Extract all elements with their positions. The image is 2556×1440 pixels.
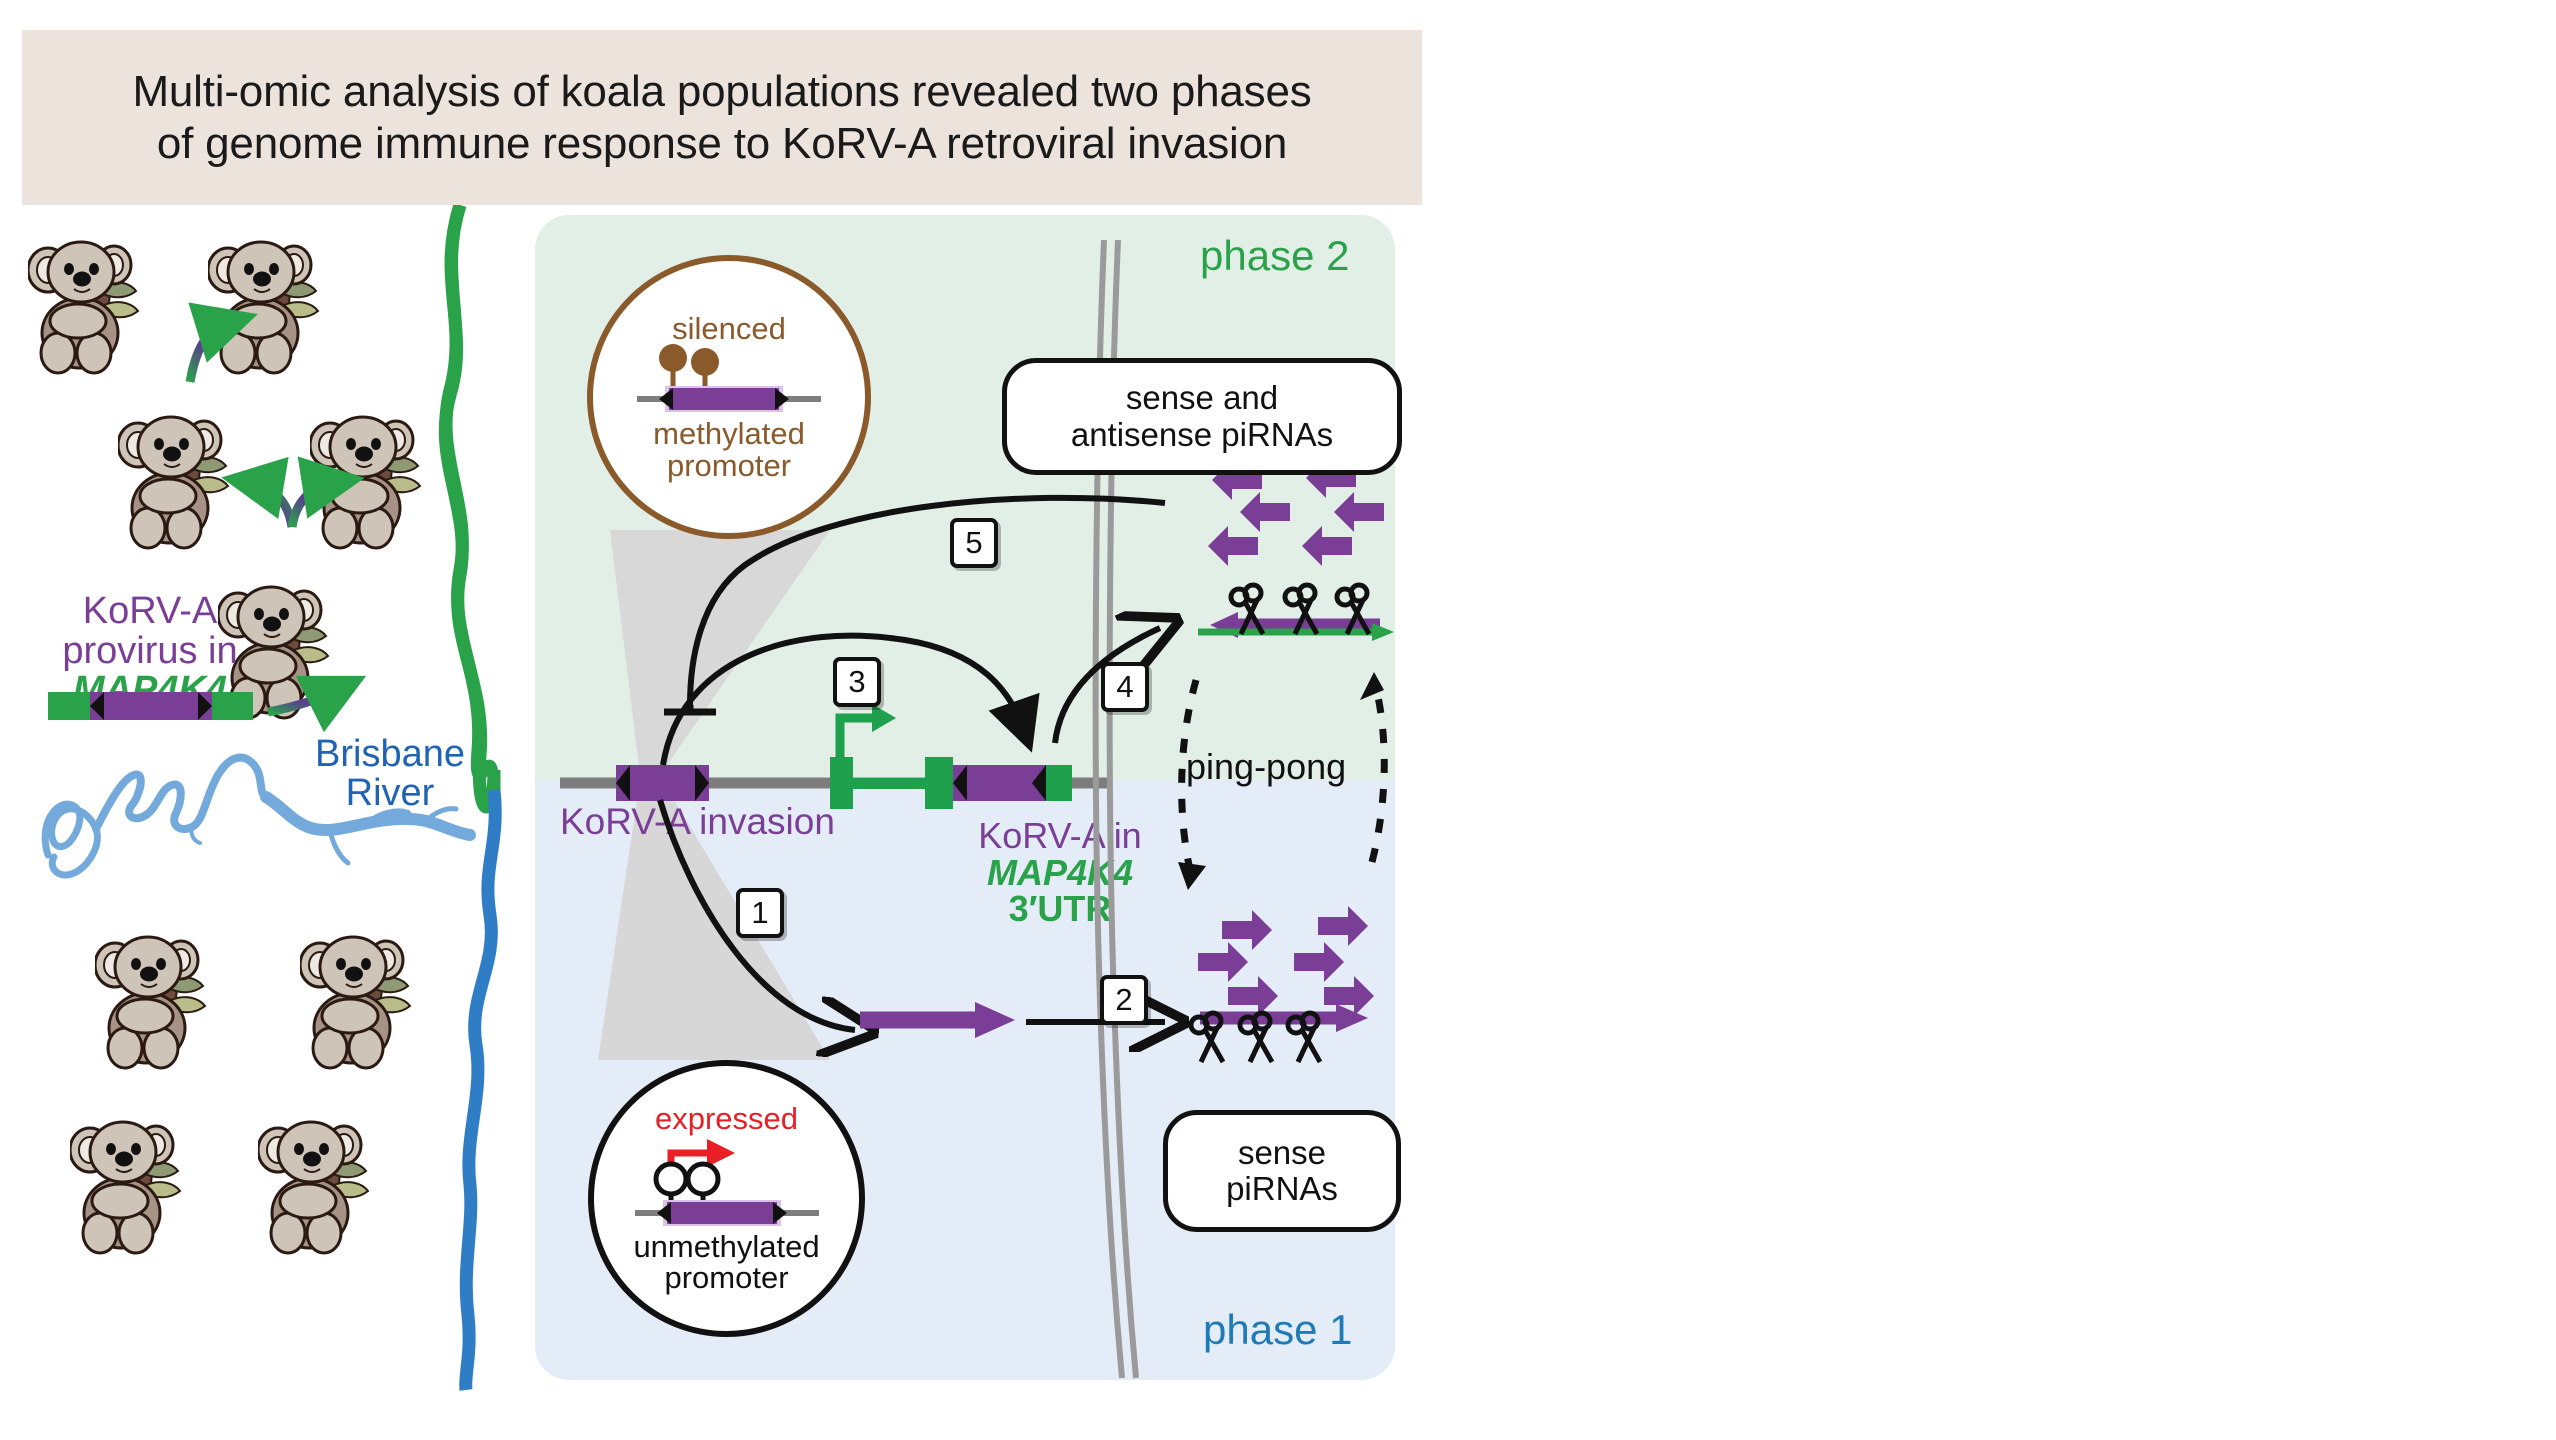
sense-box-line2: piRNAs — [1226, 1170, 1338, 1207]
antisense-pirna-box: sense and antisense piRNAs — [1002, 358, 1402, 475]
brisbane-river-label-line1: Brisbane — [315, 733, 465, 775]
korv-in-gene: MAP4K4 — [955, 855, 1165, 892]
figure-canvas: Multi-omic analysis of koala populations… — [0, 0, 2556, 1440]
koala-icon — [95, 920, 213, 1070]
step-badge-4: 4 — [1101, 662, 1149, 712]
koala-icon — [258, 1105, 376, 1255]
sense-box-line1: sense — [1238, 1134, 1326, 1171]
koala-icon — [300, 920, 418, 1070]
korv-invasion-label: KoRV-A invasion — [560, 803, 835, 841]
step-badge-5: 5 — [950, 518, 998, 568]
phase1-label: phase 1 — [1203, 1306, 1352, 1354]
koala-icon — [310, 400, 428, 550]
antisense-box-line2: antisense piRNAs — [1071, 416, 1333, 453]
provirus-cassette-icon — [48, 688, 253, 724]
step-badge-3: 3 — [833, 657, 881, 707]
antisense-box-line1: sense and — [1126, 379, 1278, 416]
korv-in-3utr-label: KoRV-A in MAP4K4 3′UTR — [955, 818, 1165, 928]
expressed-callout: expressed unmethylated promoter — [588, 1060, 865, 1337]
methylated-line1: methylated — [653, 416, 805, 451]
sense-pirna-box: sense piRNAs — [1163, 1110, 1401, 1232]
expressed-label: expressed — [655, 1103, 798, 1135]
korv-provirus-line1: KoRV-A — [30, 592, 270, 632]
step-badge-2: 2 — [1100, 975, 1148, 1025]
title-banner: Multi-omic analysis of koala populations… — [22, 30, 1422, 205]
koala-icon — [70, 1105, 188, 1255]
ping-pong-label: ping-pong — [1186, 749, 1346, 786]
methylated-promoter-label: methylated promoter — [653, 418, 805, 481]
korv-in-line1: KoRV-A in — [955, 818, 1165, 855]
unmethylated-line2: promoter — [664, 1260, 788, 1295]
koala-icon — [28, 225, 146, 375]
methylated-promoter-icon — [629, 344, 829, 418]
koala-icon — [208, 225, 326, 375]
unmethylated-line1: unmethylated — [633, 1229, 819, 1264]
silenced-callout: silenced methylated promoter — [587, 255, 871, 539]
step-badge-1: 1 — [736, 888, 784, 938]
title-line-1: Multi-omic analysis of koala populations… — [132, 66, 1311, 118]
brisbane-river-label: Brisbane River — [300, 735, 480, 813]
silenced-label: silenced — [672, 313, 786, 345]
title-line-2: of genome immune response to KoRV-A retr… — [157, 118, 1287, 170]
korv-provirus-line2: provirus in — [30, 632, 270, 672]
korv-in-utr: 3′UTR — [955, 891, 1165, 928]
koala-icon — [118, 400, 236, 550]
unmethylated-promoter-label: unmethylated promoter — [633, 1231, 819, 1294]
methylated-line2: promoter — [667, 448, 791, 483]
phase2-label: phase 2 — [1200, 232, 1349, 280]
brisbane-river-label-line2: River — [346, 772, 435, 814]
unmethylated-promoter-icon — [627, 1135, 827, 1231]
